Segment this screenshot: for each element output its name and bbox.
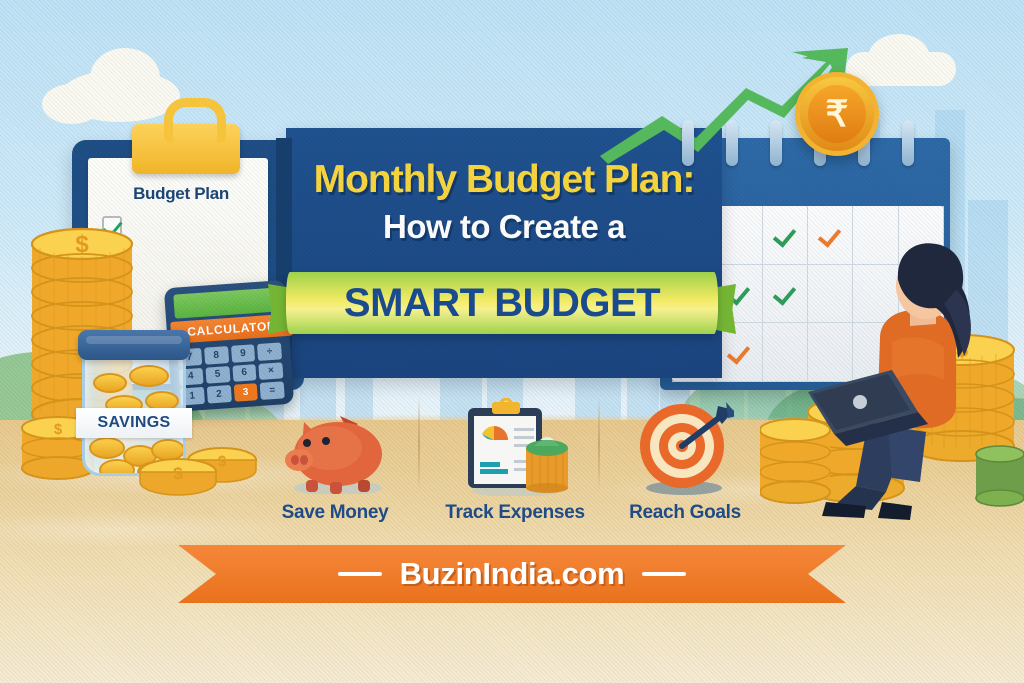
calc-key[interactable]: 9: [230, 344, 255, 362]
calendar-cell: [717, 206, 762, 265]
title-panel: Monthly Budget Plan: How to Create a: [286, 128, 722, 378]
clipboard-heading: Budget Plan: [106, 184, 256, 204]
expense-chart-icon: [456, 398, 576, 496]
calc-key[interactable]: 5: [205, 366, 230, 384]
brand-ribbon: BuzinIndia.com: [178, 545, 846, 607]
feature-label: Save Money: [250, 502, 420, 524]
infographic-poster: ₹ $: [0, 0, 1024, 683]
brand-url: BuzinIndia.com: [400, 556, 625, 592]
title-line-3: SMART BUDGET: [286, 281, 718, 326]
spiral-ring-icon: [726, 120, 738, 166]
feature-row: Save Money: [250, 392, 770, 538]
calc-key[interactable]: 6: [232, 364, 257, 382]
loose-coins: $ $: [134, 438, 262, 496]
clipboard-clip-icon: [132, 124, 240, 174]
svg-text:$: $: [218, 453, 227, 470]
svg-text:$: $: [173, 464, 183, 483]
ribbon-body: SMART BUDGET: [286, 272, 718, 334]
piggy-bank-icon: [274, 406, 396, 494]
woman-with-laptop-illustration: $: [760, 230, 1024, 520]
spiral-ring-icon: [682, 120, 694, 166]
ribbon-content: BuzinIndia.com: [178, 545, 846, 603]
rupee-coin-icon: ₹: [795, 72, 879, 156]
feature-label: Reach Goals: [600, 502, 770, 524]
calculator-display: [173, 288, 278, 319]
feature-label: Track Expenses: [430, 502, 600, 524]
dash-right: [642, 572, 686, 576]
feature-divider: [598, 396, 600, 492]
spiral-ring-icon: [770, 120, 782, 166]
svg-text:$: $: [54, 421, 63, 438]
cloud-icon: [60, 70, 180, 122]
rupee-symbol: ₹: [808, 85, 866, 143]
target-goal-icon: [634, 400, 734, 496]
smart-budget-ribbon: SMART BUDGET: [268, 272, 736, 338]
dash-left: [338, 572, 382, 576]
calc-key[interactable]: ×: [259, 362, 284, 380]
feature-divider: [418, 396, 420, 492]
calc-key[interactable]: 8: [204, 346, 229, 364]
calc-key[interactable]: ÷: [257, 342, 282, 360]
title-line-2: How to Create a: [286, 208, 722, 246]
jar-lid: [78, 330, 190, 360]
savings-label: SAVINGS: [76, 408, 192, 438]
calc-key[interactable]: 2: [207, 385, 232, 403]
spiral-ring-icon: [902, 120, 914, 166]
title-line-1: Monthly Budget Plan:: [286, 158, 722, 202]
check-icon: [728, 341, 750, 363]
